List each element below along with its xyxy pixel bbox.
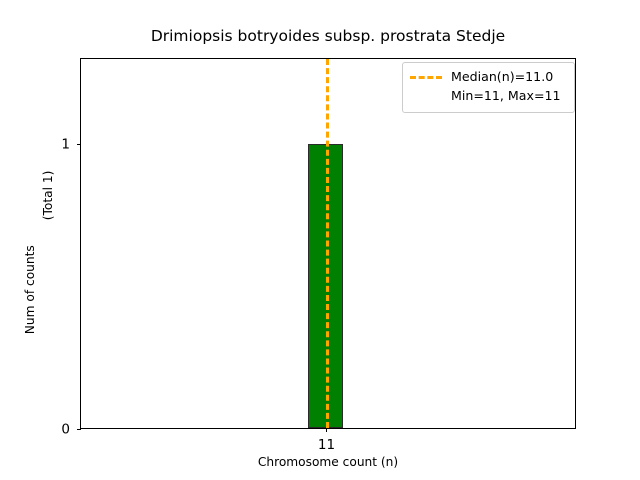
chart-figure: Drimiopsis botryoides subsp. prostrata S… — [0, 0, 640, 480]
legend-label-median: Median(n)=11.0 — [451, 71, 553, 84]
x-axis-label: Chromosome count (n) — [80, 456, 576, 468]
plot-inner — [81, 59, 575, 428]
median-line — [326, 59, 329, 428]
xtick-mark-11: 11 — [326, 428, 327, 432]
legend: Median(n)=11.0 Min=11, Max=11 — [402, 62, 575, 113]
ytick-label-1: 1 — [61, 138, 70, 152]
legend-label-minmax: Min=11, Max=11 — [451, 90, 561, 103]
plot-area: 0 1 11 — [80, 58, 576, 429]
xtick-label-11: 11 — [318, 439, 335, 453]
chart-title: Drimiopsis botryoides subsp. prostrata S… — [80, 26, 576, 46]
legend-dash-icon — [410, 76, 442, 79]
legend-item-minmax: Min=11, Max=11 — [410, 87, 567, 106]
y-axis-total-label: (Total 1) — [42, 171, 54, 221]
y-axis-label: Num of counts — [24, 245, 36, 334]
ytick-mark-0: 0 — [77, 429, 81, 430]
ytick-label-0: 0 — [61, 423, 70, 437]
legend-item-median: Median(n)=11.0 — [410, 68, 567, 87]
